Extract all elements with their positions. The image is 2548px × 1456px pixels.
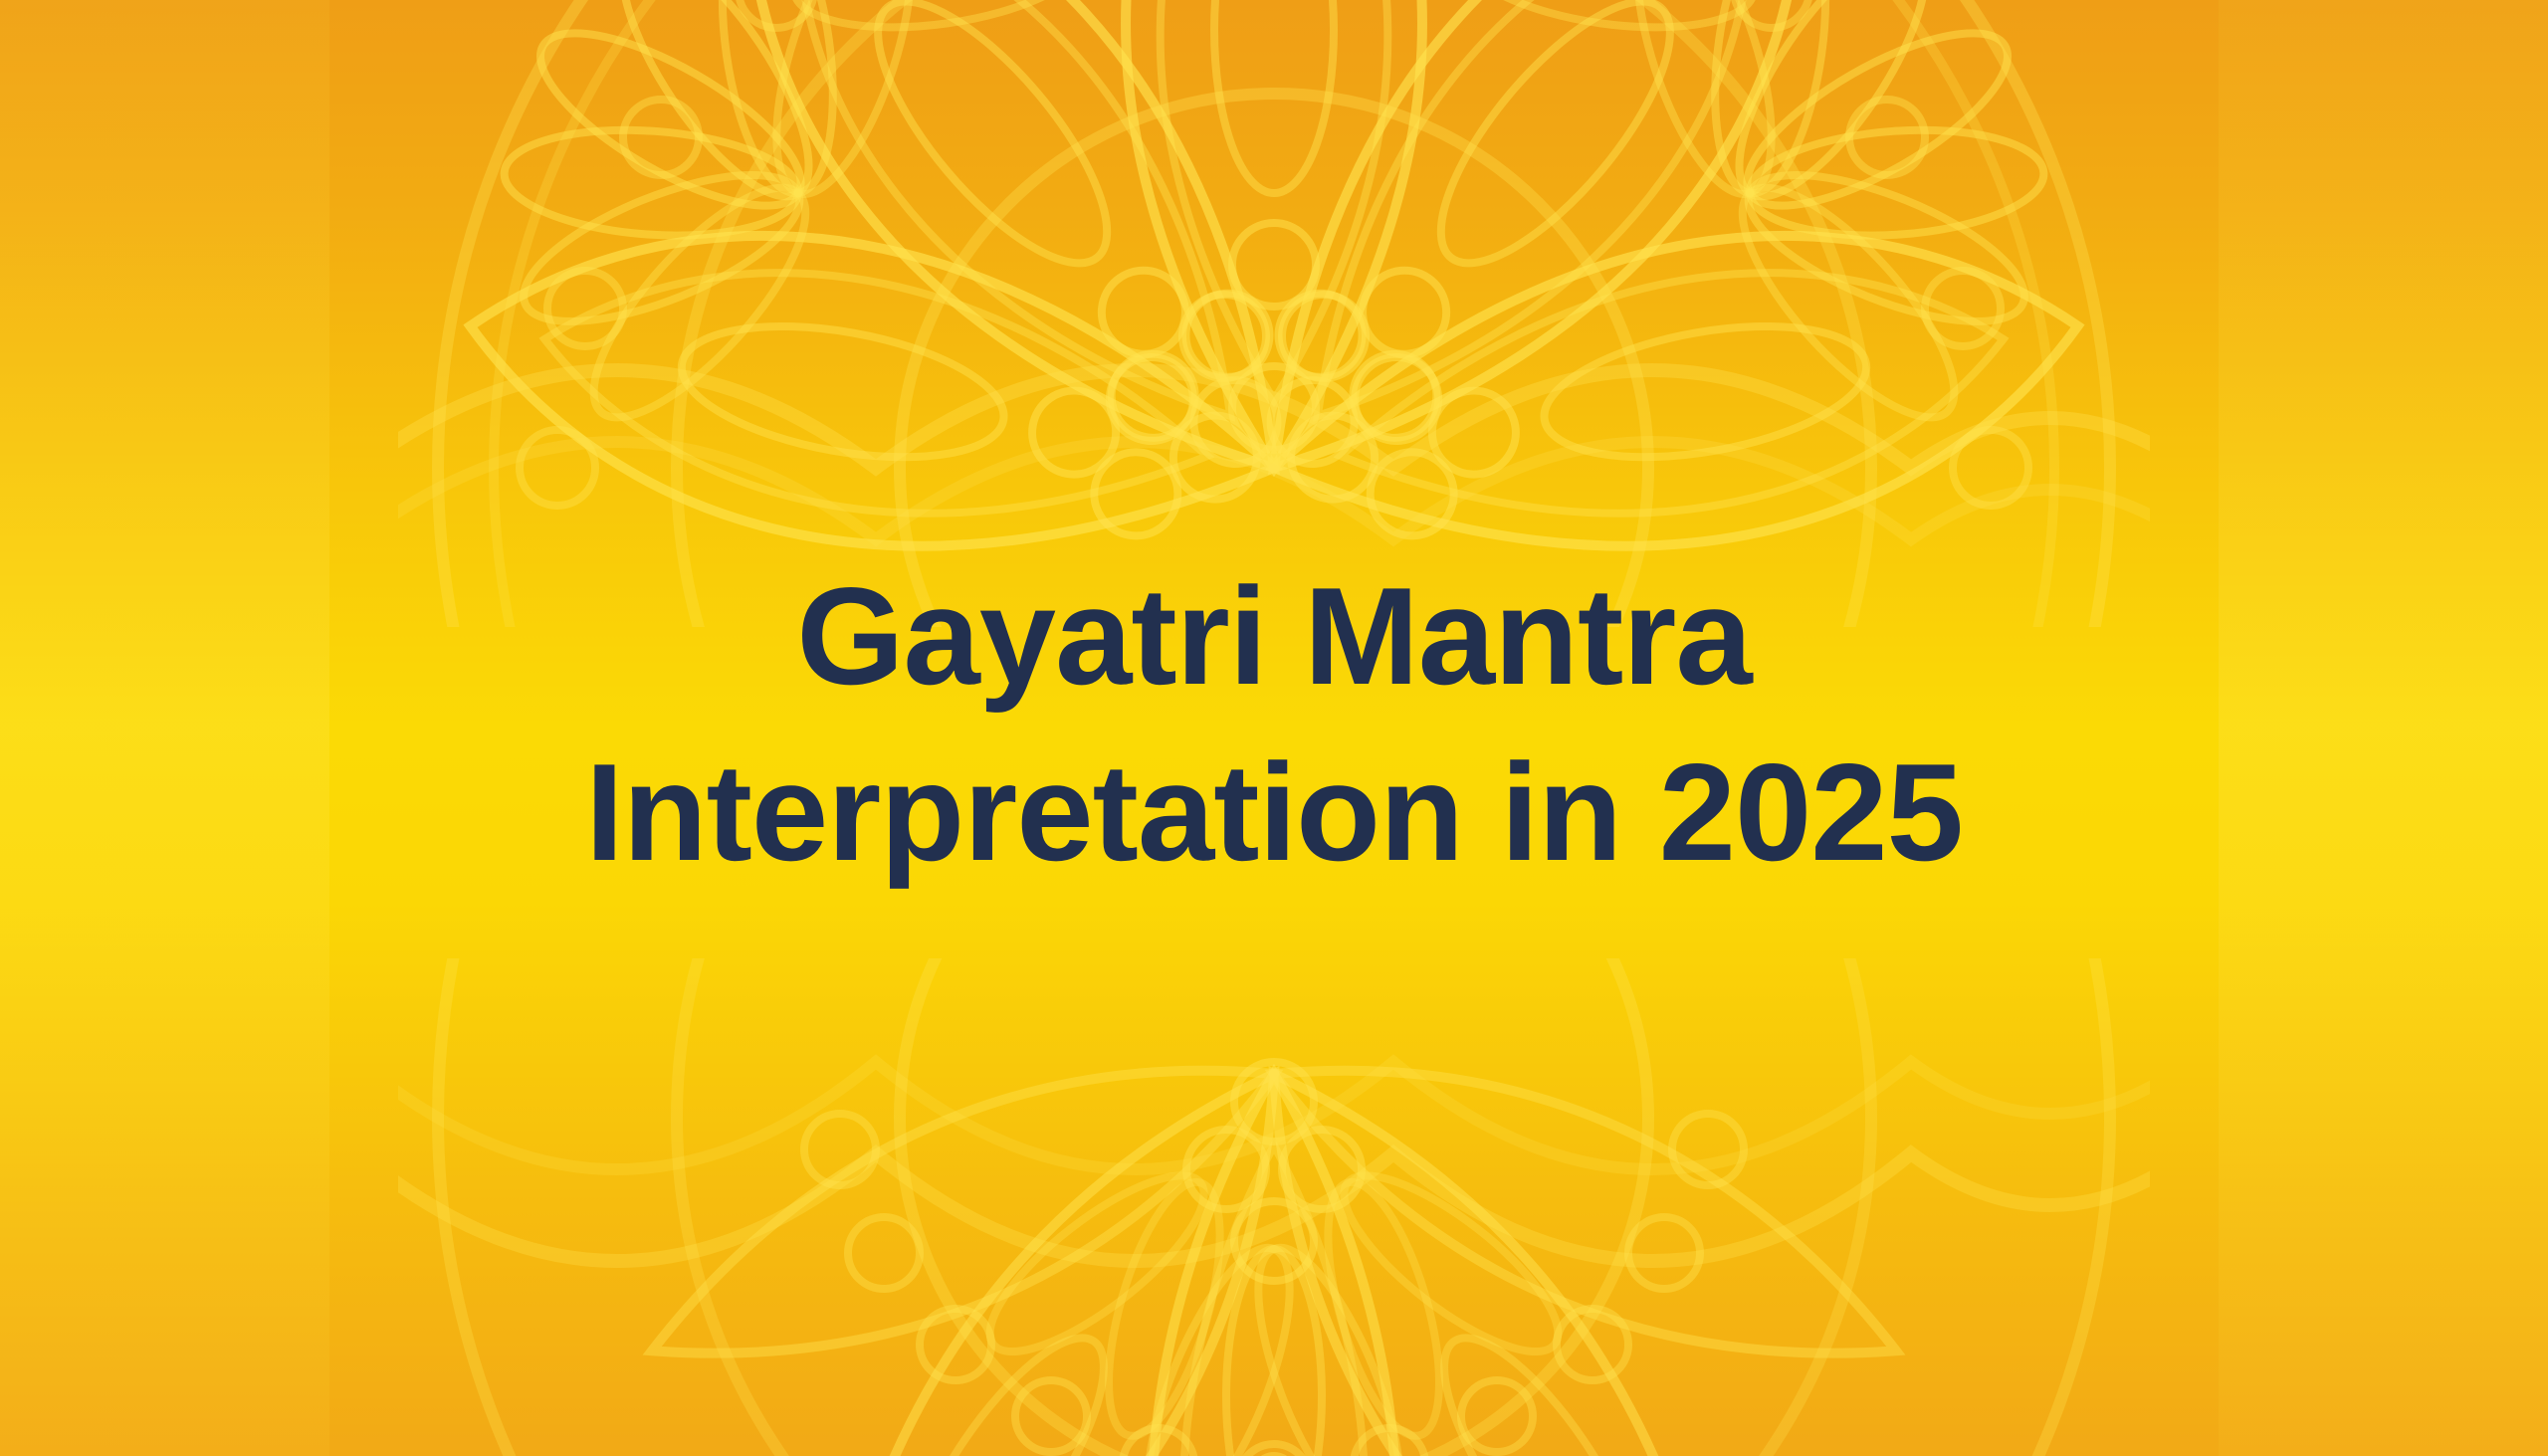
title-line-2: Interpretation in 2025	[179, 726, 2369, 902]
banner-title: Gayatri Mantra Interpretation in 2025	[0, 549, 2548, 901]
title-line-1: Gayatri Mantra	[179, 549, 2369, 726]
mandala-ornament-bottom	[398, 958, 2150, 1456]
mandala-ornament-top	[398, 0, 2150, 627]
hero-banner: Gayatri Mantra Interpretation in 2025	[0, 0, 2548, 1456]
